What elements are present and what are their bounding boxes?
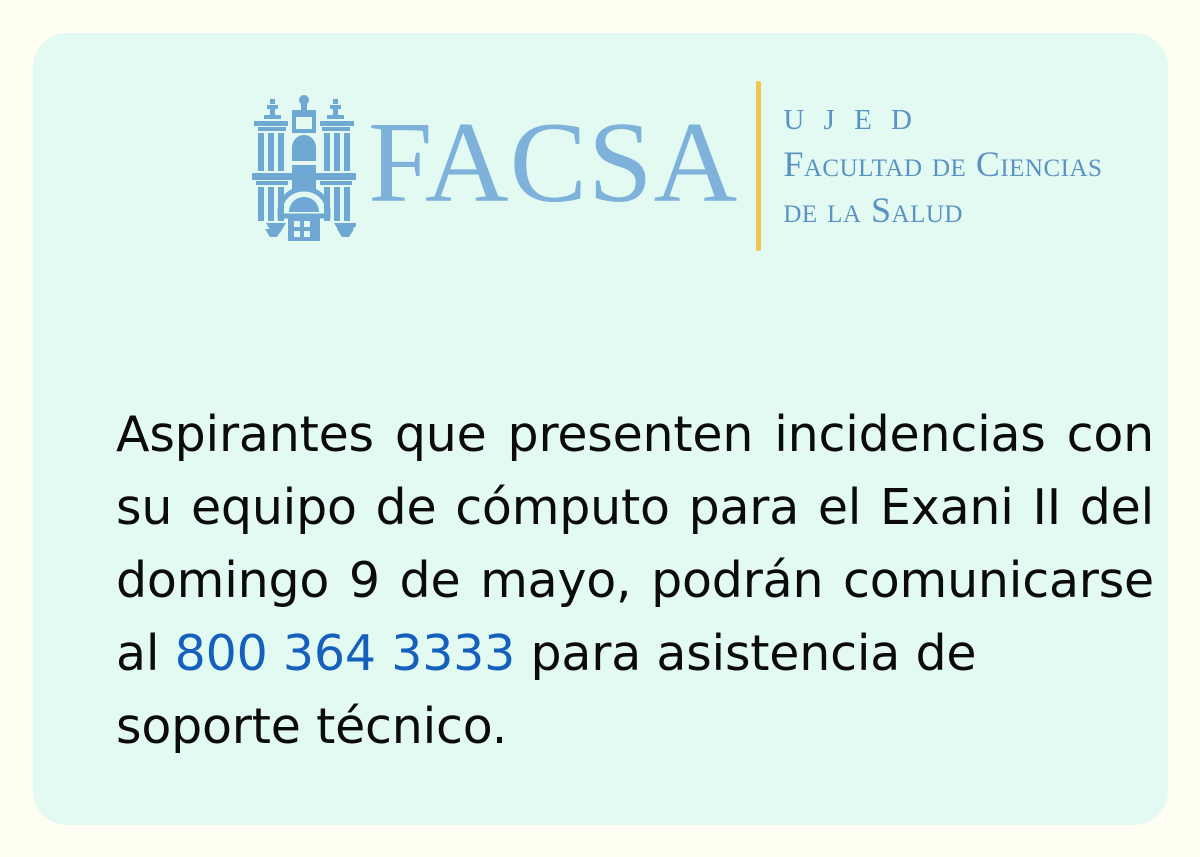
poster-canvas: FACSA U J E D Facultad de Ciencias de la… [0, 0, 1200, 857]
announcement-card: FACSA U J E D Facultad de Ciencias de la… [33, 33, 1168, 825]
facsa-wordmark: FACSA [368, 105, 738, 227]
announcement-text: Aspirantes que presenten incidencias con… [116, 398, 1154, 763]
message-after-phone: para asistencia de [515, 625, 976, 682]
logo-institution-text: U J E D Facultad de Ciencias de la Salud [783, 99, 1102, 233]
logo-line-ujed: U J E D [783, 99, 1102, 141]
facsa-logo: FACSA U J E D Facultad de Ciencias de la… [248, 61, 1102, 271]
logo-line-facultad: Facultad de Ciencias [783, 141, 1102, 187]
logo-line-salud: de la Salud [783, 187, 1102, 233]
support-phone-number[interactable]: 800 364 3333 [175, 625, 516, 682]
logo-divider [756, 81, 761, 251]
message-tail: soporte técnico. [116, 690, 1154, 763]
ujed-cathedral-emblem-icon [248, 91, 360, 241]
